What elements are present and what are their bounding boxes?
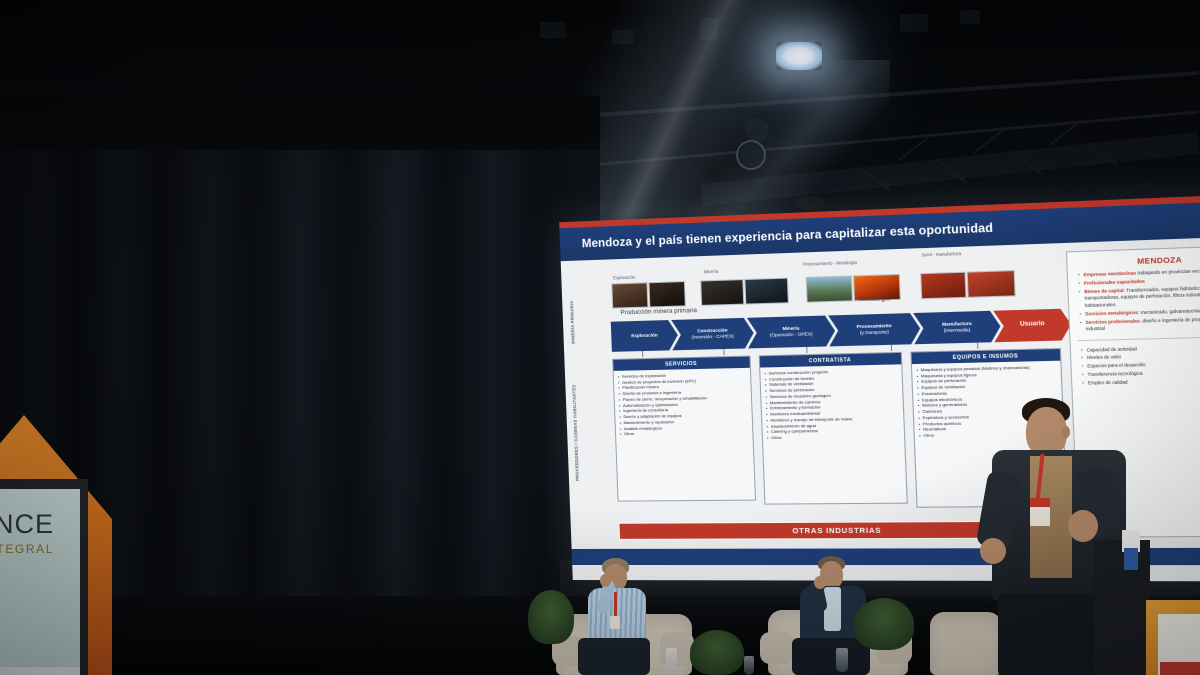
detail-item: Otros [620,429,749,437]
water-glass [666,648,677,670]
chain-step-label: Usuario [1020,321,1045,328]
mendoza-item: Servicios profesionales: diseño e ingeni… [1081,315,1200,333]
seated-panelist-right [762,556,942,675]
connector-tick [977,343,978,349]
stage-light-fixture [795,196,825,210]
photo-caption: Semi - manufactura [921,251,961,258]
photo-thumb [967,270,1016,298]
detail-box-contratista: CONTRATISTA Servicios construcción proye… [759,352,908,505]
shirt-front [824,587,841,631]
value-chain: Exploración Construcción (Inversión - CA… [611,309,1054,352]
group-caption-metallurgy: Metalurgia [859,295,890,303]
spotlight [776,42,822,70]
blue-marker [1124,548,1138,570]
photo-caption: Procesamiento - Metalurgia [803,260,857,267]
photo-thumb [744,278,789,305]
banner-text-block: NCE INTEGRAL [0,511,60,556]
decorative-plant [528,590,574,644]
photo-thumb [611,282,648,308]
photo-thumb [648,281,685,307]
photo-thumb [920,272,966,300]
decorative-plant [854,598,914,650]
connector-tick [891,345,892,351]
vlabel-primary-mining: MINERÍA PRIMARIA [568,283,576,361]
banner-line-2: INTEGRAL [0,542,54,556]
connector-tick [806,347,807,353]
mendoza-panel-divider [1077,335,1200,340]
sponsor-banner: NCE INTEGRAL [0,415,112,675]
armchair-armrest [760,632,794,664]
podium-side [1094,540,1150,675]
chain-step: Construcción (Inversión - CAPEX) [671,318,754,351]
stage-light-fixture [612,30,634,44]
banner-footer-strip [0,667,80,675]
mendoza-footer-item: Empleo de calidad [1083,377,1200,387]
stage-light-fixture [736,140,766,170]
chain-step-sub: (Inversión - CAPEX) [691,333,734,339]
mendoza-list: Empresas mendocinas trabajando en provin… [1068,266,1200,333]
water-glass [744,656,754,675]
detail-item: Otros [767,433,901,441]
detail-box-body: Servicios de exploración Gestión de proy… [614,368,753,441]
chain-step: Minería (Operación - OPEX) [747,315,836,348]
badge [610,616,620,629]
stage-light-fixture [700,18,718,40]
legs [578,638,650,675]
lanyard [614,592,617,618]
photo-caption: Exploración [613,275,635,281]
conference-stage-photo: Mendoza y el país tienen experiencia par… [0,0,1200,675]
other-industries-label: OTRAS INDUSTRIAS [792,526,881,536]
mendoza-item-lead: Servicios metalúrgicos [1085,309,1138,316]
decorative-plant [690,630,744,675]
photo-thumb [700,279,744,306]
stage-light-fixture [900,14,928,32]
vlabel-suppliers: PROVEEDORES / CADENAS HABILITANTES [571,373,589,493]
photo-strip: Exploración Minería Procesamiento - Meta… [611,259,1032,308]
water-glass [836,648,848,672]
ear [1062,426,1070,438]
stage-light-fixture [745,118,769,142]
hand-left [980,538,1006,564]
mendoza-item-lead: Empresas mendocinas [1083,270,1136,277]
connector-tick [723,349,724,355]
chain-step-label: Exploración [631,333,658,339]
chain-step: Exploración [611,320,679,352]
stage-light-fixture [960,10,980,24]
mendoza-item-rest: : mecanizado, galvanotecnia, reparacione… [1138,307,1200,315]
detail-list: Servicios de exploración Gestión de proy… [618,371,750,437]
mendoza-item-lead: Profesionales capacitados [1084,279,1145,286]
photo-thumb [806,275,853,302]
hand-right [1068,510,1098,542]
badge-accent [1030,498,1050,507]
hand [814,576,826,589]
group-caption-primary: Producción minera primaria [620,307,697,316]
detail-list: Servicios construcción proyecto Construc… [764,368,901,441]
connector-tick [642,351,643,357]
chain-step-label: Minería [782,326,799,332]
mendoza-item-lead: Servicios profesionales [1085,318,1139,325]
slide-title-text: Mendoza y el país tienen experiencia par… [582,221,994,250]
legs [792,638,870,675]
chain-step-sub: (intermedia) [944,327,971,333]
banner-line-1: NCE [0,511,54,538]
chain-step: Manufactura (intermedia) [913,311,1001,345]
hand [600,574,611,587]
stage-light-fixture [540,22,566,38]
chain-step-sub: (y transporte) [860,329,889,335]
mendoza-footer-list: Capacidad de actividad Niveles de valor … [1071,343,1200,388]
chain-step: Procesamiento (y transporte) [828,313,921,347]
mendoza-item-lead: Bienes de capital [1084,288,1124,295]
photo-caption: Minería [704,269,718,275]
detail-box-servicios: SERVICIOS Servicios de exploración Gesti… [612,356,756,502]
mendoza-item: Bienes de capital: Transformados, equipo… [1080,284,1200,310]
corner-sign-accent [1160,662,1200,675]
chain-step-sub: (Operación - OPEX) [770,331,813,337]
chain-step-user: Usuario [993,309,1071,343]
detail-box-body: Servicios construcción proyecto Construc… [760,364,904,444]
